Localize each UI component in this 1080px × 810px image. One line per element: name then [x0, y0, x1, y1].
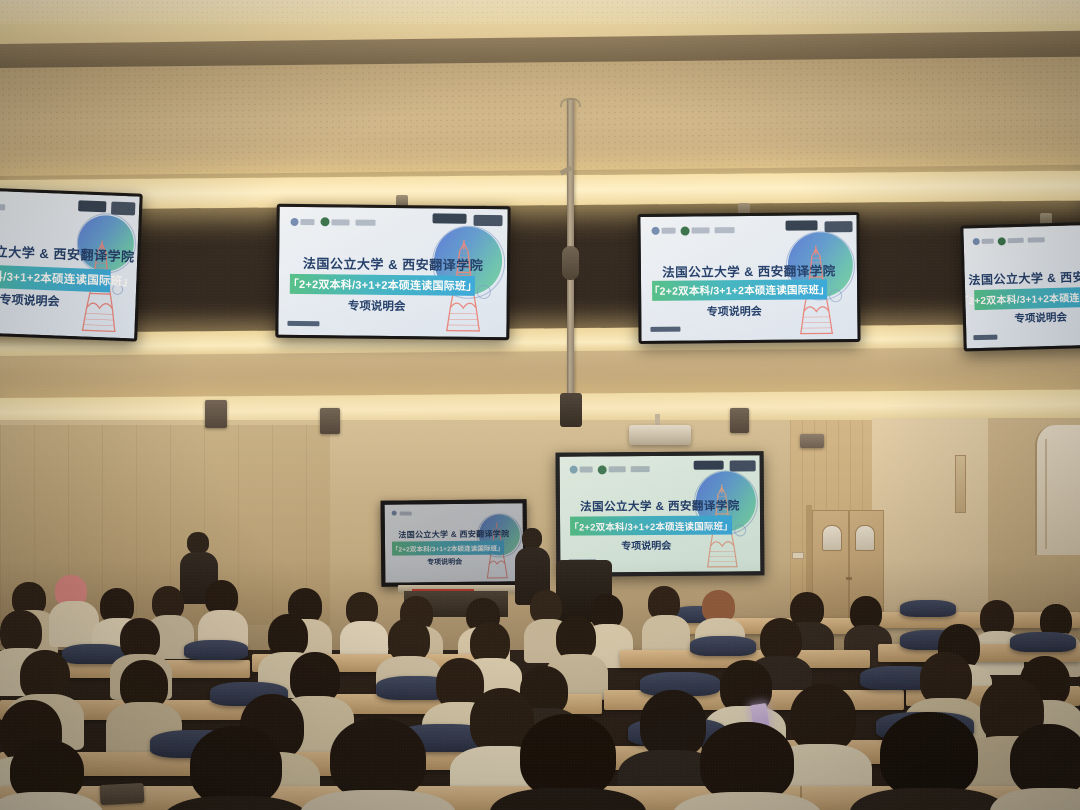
slide-badge-top-right — [785, 220, 817, 230]
door-window-right — [855, 525, 875, 551]
wall-speaker — [730, 408, 749, 433]
wall-speaker — [205, 400, 227, 428]
slide-content: 法国公立大学 & 西安翻译学院 「2+2双本科/3+1+2本硕连读国际班」 专项… — [0, 189, 140, 338]
slide-program-band: 「2+2双本科/3+1+2本硕连读国际班」 — [392, 541, 504, 556]
main-projection-screen[interactable]: 法国公立大学 & 西安翻译学院 「2+2双本科/3+1+2本硕连读国际班」 专项… — [556, 451, 765, 576]
partner-logo-icon — [998, 237, 1024, 246]
slide-badge-top-right — [694, 460, 724, 469]
slide-logo-row — [0, 197, 78, 220]
partner-logo-icon — [291, 218, 315, 226]
partner-logo-icon — [972, 238, 993, 246]
door-window-left — [822, 525, 842, 551]
slide-logo-row — [972, 231, 1080, 250]
pole-joint — [562, 246, 579, 280]
slide-logo-row — [392, 508, 478, 519]
slide-subtitle: 专项说明会 — [385, 557, 504, 568]
slide-program-text: 「2+2双本科/3+1+2本硕连读国际班」 — [288, 276, 478, 294]
phone-on-desk[interactable] — [100, 783, 145, 805]
slide-badge-corner — [111, 202, 136, 216]
slide-program-band: 「2+2双本科/3+1+2本硕连读国际班」 — [652, 280, 827, 301]
slide-content: 法国公立大学 & 西安翻译学院 「2+2双本科/3+1+2本硕连读国际班」 专项… — [963, 224, 1080, 349]
seat-back — [184, 640, 248, 660]
partner-logo-icon — [1028, 237, 1045, 242]
slide-subtitle: 专项说明会 — [279, 296, 475, 314]
seat-back — [690, 636, 756, 656]
presenter-head — [187, 532, 209, 554]
seat-back — [900, 600, 956, 617]
ceiling-monitor-4[interactable]: 法国公立大学 & 西安翻译学院 「2+2双本科/3+1+2本硕连读国际班」 专项… — [960, 221, 1080, 352]
slide-logo-row — [570, 462, 694, 478]
slide-subtitle: 专项说明会 — [641, 302, 827, 320]
slide-logo-row — [651, 222, 785, 239]
partner-logo-icon — [400, 511, 412, 515]
partner-logo-icon — [570, 466, 593, 474]
slide-title: 法国公立大学 & 西安翻译学院 — [641, 260, 857, 281]
wall-speaker — [320, 408, 340, 434]
wall-switch-plate[interactable] — [792, 552, 804, 559]
slide-program-text: 「2+2双本科/3+1+2本硕连读国际班」 — [649, 282, 830, 299]
ceiling-monitor-2[interactable]: 法国公立大学 & 西安翻译学院 「2+2双本科/3+1+2本硕连读国际班」 专项… — [275, 204, 510, 340]
wall-panel-strip — [955, 455, 966, 513]
ceiling-monitor-1[interactable]: 法国公立大学 & 西安翻译学院 「2+2双本科/3+1+2本硕连读国际班」 专项… — [0, 186, 143, 341]
wall-speaker — [800, 434, 824, 448]
slide-footer-bar — [288, 321, 320, 326]
arched-window — [1035, 425, 1080, 555]
seat-back — [1010, 632, 1076, 652]
ceiling-camera — [560, 393, 582, 427]
partner-logo-icon — [651, 227, 675, 235]
presenter-head — [522, 528, 542, 549]
lecture-hall-photo: 法国公立大学 & 西安翻译学院 「2+2双本科/3+1+2本硕连读国际班」 专项… — [0, 0, 1080, 810]
slide-title: 法国公立大学 & 西安翻译学院 — [385, 528, 523, 540]
slide-badge-corner — [473, 215, 503, 227]
ceiling-projector — [629, 425, 691, 445]
partner-logo-icon — [0, 204, 5, 211]
slide-badge-corner — [730, 461, 756, 472]
partner-logo-icon — [321, 217, 350, 226]
slide-program-text: 「2+2双本科/3+1+2本硕连读国际班」 — [392, 543, 504, 554]
slide-footer-bar — [650, 327, 680, 332]
slide-program-band: 「2+2双本科/3+1+2本硕连读国际班」 — [0, 264, 111, 292]
slide-badge-top-right — [432, 214, 466, 225]
partner-logo-icon — [598, 465, 626, 474]
partner-logo-icon — [355, 219, 375, 225]
front-left-display[interactable]: 法国公立大学 & 西安翻译学院 「2+2双本科/3+1+2本硕连读国际班」 专项… — [381, 499, 528, 587]
slide-title: 法国公立大学 & 西安翻译学院 — [965, 267, 1080, 289]
partner-logo-icon — [681, 226, 710, 235]
slide-badge-top-right — [78, 200, 106, 212]
slide-program-text: 「2+2双本科/3+1+2本硕连读国际班」 — [963, 288, 1080, 308]
slide-title: 法国公立大学 & 西安翻译学院 — [560, 497, 760, 514]
slide-program-band: 「2+2双本科/3+1+2本硕连读国际班」 — [974, 287, 1080, 310]
slide-subtitle: 专项说明会 — [966, 308, 1080, 327]
slide-program-band: 「2+2双本科/3+1+2本硕连读国际班」 — [290, 273, 475, 295]
partner-logo-icon — [392, 511, 397, 516]
slide-subtitle: 专项说明会 — [560, 537, 732, 553]
ceiling-perforation-texture — [0, 0, 1080, 26]
partner-logo-icon — [715, 227, 735, 233]
slide-badge-corner — [824, 221, 852, 232]
ceiling-monitor-3[interactable]: 法国公立大学 & 西安翻译学院 「2+2双本科/3+1+2本硕连读国际班」 专项… — [637, 212, 860, 344]
slide-footer-bar — [973, 334, 997, 339]
slide-content: 法国公立大学 & 西安翻译学院 「2+2双本科/3+1+2本硕连读国际班」 专项… — [278, 207, 507, 337]
slide-content: 法国公立大学 & 西安翻译学院 「2+2双本科/3+1+2本硕连读国际班」 专项… — [385, 503, 524, 582]
slide-program-text: 「2+2双本科/3+1+2本硕连读国际班」 — [569, 518, 733, 533]
slide-program-band: 「2+2双本科/3+1+2本硕连读国际班」 — [570, 516, 732, 536]
slide-content: 法国公立大学 & 西安翻译学院 「2+2双本科/3+1+2本硕连读国际班」 专项… — [640, 215, 857, 341]
door-handle[interactable] — [846, 577, 852, 580]
partner-logo-icon — [631, 466, 650, 472]
slide-logo-row — [291, 213, 433, 231]
slide-content: 法国公立大学 & 西安翻译学院 「2+2双本科/3+1+2本硕连读国际班」 专项… — [560, 455, 761, 572]
slide-title: 法国公立大学 & 西安翻译学院 — [279, 253, 507, 274]
